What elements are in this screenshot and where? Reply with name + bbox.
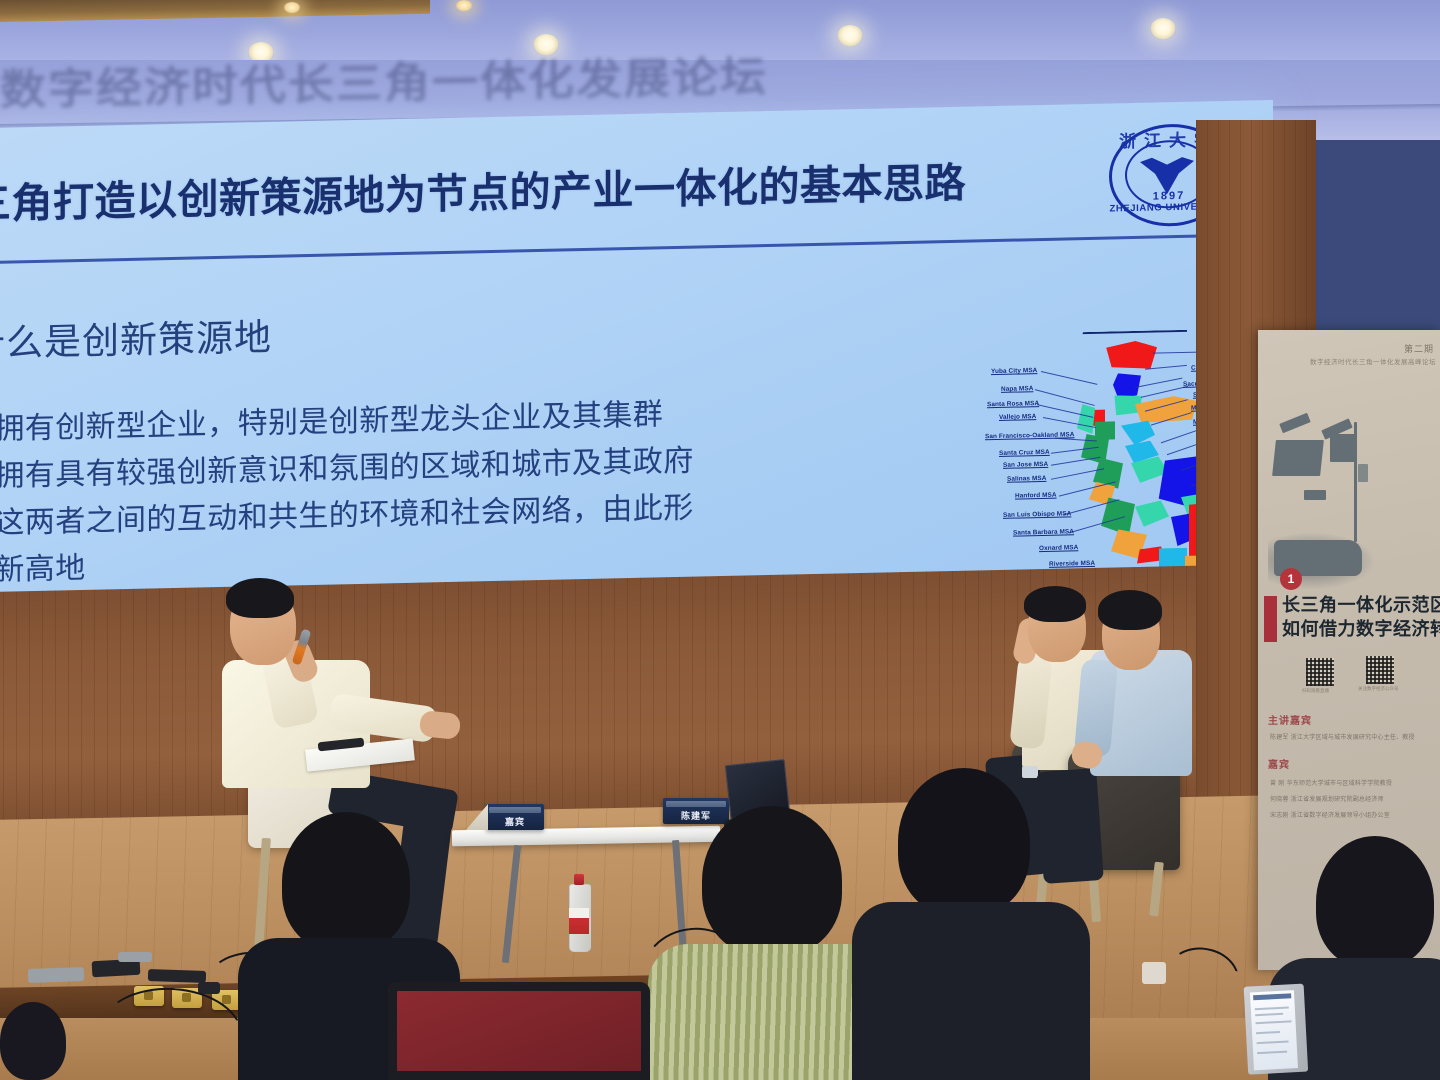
qr-code-livestream[interactable] xyxy=(1306,658,1334,686)
map-label: San Luis Obispo MSA xyxy=(1003,510,1071,518)
beam-light-icon xyxy=(455,0,473,12)
banner-section-host: 主讲嘉宾 xyxy=(1268,712,1312,727)
laptop-display[interactable] xyxy=(1250,990,1298,1070)
laptop-content-line xyxy=(1255,1013,1283,1016)
ink-house-icon xyxy=(1272,440,1324,476)
map-label: Oxnard MSA xyxy=(1039,544,1078,552)
banner-title-line2: 如何借力数字经济转型 xyxy=(1282,618,1440,642)
downlight-icon xyxy=(1150,18,1176,40)
banner-title-line1: 长三角一体化示范区 xyxy=(1282,594,1440,618)
banner-guest-line: 宋志刚 浙江省数字经济发展领导小组办公室 xyxy=(1270,810,1390,819)
laptop-content-line xyxy=(1256,1031,1280,1034)
projection-screen: 三角打造以创新策源地为节点的产业一体化的基本思路 浙江大学 1897 ZHEJI… xyxy=(0,100,1273,608)
nameplate-text: 嘉宾 xyxy=(486,815,544,828)
audience-head xyxy=(898,768,1030,916)
map-label: San Jose MSA xyxy=(1003,461,1048,469)
map-label: Santa Rosa MSA xyxy=(987,400,1039,408)
conference-photo-scene: 数字经济时代长三角一体化发展论坛 三角打造以创新策源地为节点的产业一体化的基本思… xyxy=(0,0,1440,1080)
banner-subheader: 数字经济时代长三角一体化发展高峰论坛 xyxy=(1310,356,1436,366)
banner-header: 第二期 xyxy=(1404,342,1434,355)
speaker-hand xyxy=(419,710,461,740)
ink-block-icon xyxy=(1304,490,1326,500)
speaker-hair xyxy=(226,578,294,618)
laptop-content-line xyxy=(1256,1020,1292,1024)
panelist-hair xyxy=(1024,586,1086,622)
downlight-icon xyxy=(837,25,863,47)
msa-region-santa-rosa xyxy=(1077,404,1095,434)
nameplate-strip xyxy=(666,801,726,807)
front-laptop[interactable] xyxy=(1244,983,1315,1078)
ink-roof-icon xyxy=(1279,413,1311,434)
power-socket-icon xyxy=(222,995,231,1004)
audience-head xyxy=(1316,836,1434,968)
map-leader-line xyxy=(1051,457,1101,466)
slide-body: 是拥有创新型企业，特别是创新型龙头企业及其集群 是拥有具有较强创新意识和氛围的区… xyxy=(0,386,884,594)
qr-caption: 关注数字经济公众号 xyxy=(1358,686,1399,692)
bottle-label xyxy=(569,908,589,934)
ink-pole-icon xyxy=(1354,422,1357,542)
water-bottle xyxy=(568,872,590,950)
map-label: Riverside MSA xyxy=(1049,560,1095,568)
map-label: Napa MSA xyxy=(1001,385,1033,393)
banner-title-accent-bar xyxy=(1264,596,1277,642)
paper-cup xyxy=(1142,962,1166,984)
map-label: Hanford MSA xyxy=(1015,492,1057,500)
laptop-content-line xyxy=(1255,1006,1289,1010)
banner-badge-number: 1 xyxy=(1280,568,1302,590)
stage-gear xyxy=(148,969,206,983)
beam-light-icon xyxy=(283,2,301,14)
wall-sign-text: 数字经济时代长三角一体化发展论坛 xyxy=(0,51,768,116)
qr-caption: 扫码观看直播 xyxy=(1302,688,1329,694)
banner-guest-line: 曾 刚 华东师范大学城市与区域科学学院教授 xyxy=(1270,778,1392,787)
audience-chair-back xyxy=(388,982,650,1080)
map-label: Salinas MSA xyxy=(1007,475,1046,483)
map-label: Yuba City MSA xyxy=(991,367,1037,375)
slide-subtitle: 什么是创新策源地 xyxy=(0,307,272,368)
slide: 三角打造以创新策源地为节点的产业一体化的基本思路 浙江大学 1897 ZHEJI… xyxy=(0,100,1273,608)
map-label: Santa Barbara MSA xyxy=(1013,528,1074,536)
laptop-content-line xyxy=(1257,1051,1287,1055)
ink-lamp-icon xyxy=(1358,464,1368,482)
nameplate-strip xyxy=(489,807,541,813)
audience-shoulders xyxy=(852,902,1090,1080)
stage-gear xyxy=(28,967,84,983)
nameplate-1: 嘉宾 xyxy=(486,804,544,830)
banner-section-guests: 嘉宾 xyxy=(1268,756,1290,771)
nameplate-text: 陈建军 xyxy=(663,809,729,822)
audience-head xyxy=(282,812,410,952)
slide-title: 三角打造以创新策源地为节点的产业一体化的基本思路 xyxy=(0,141,1210,240)
stage-gear xyxy=(118,952,152,962)
map-label: Santa Cruz MSA xyxy=(999,449,1050,457)
panelist-leg xyxy=(1036,768,1104,884)
bottle-cap xyxy=(574,874,584,885)
nameplate-2: 陈建军 xyxy=(663,798,729,824)
audience-head xyxy=(702,806,842,956)
laptop-titlebar xyxy=(1253,993,1291,1000)
banner-guest-line: 何晓蓉 浙江省发展规划研究院副总经济师 xyxy=(1270,794,1384,803)
panelist-phone xyxy=(1022,766,1038,778)
qr-code-wechat[interactable] xyxy=(1366,656,1394,684)
banner-host-line: 陈建军 浙江大学区域与城市发展研究中心主任、教授 xyxy=(1270,732,1415,741)
panelist-hair xyxy=(1098,590,1162,630)
audience-head xyxy=(0,1002,66,1080)
map-label: Vallejo MSA xyxy=(999,413,1036,421)
laptop-content-line xyxy=(1257,1041,1289,1045)
ink-house-icon xyxy=(1330,434,1356,462)
